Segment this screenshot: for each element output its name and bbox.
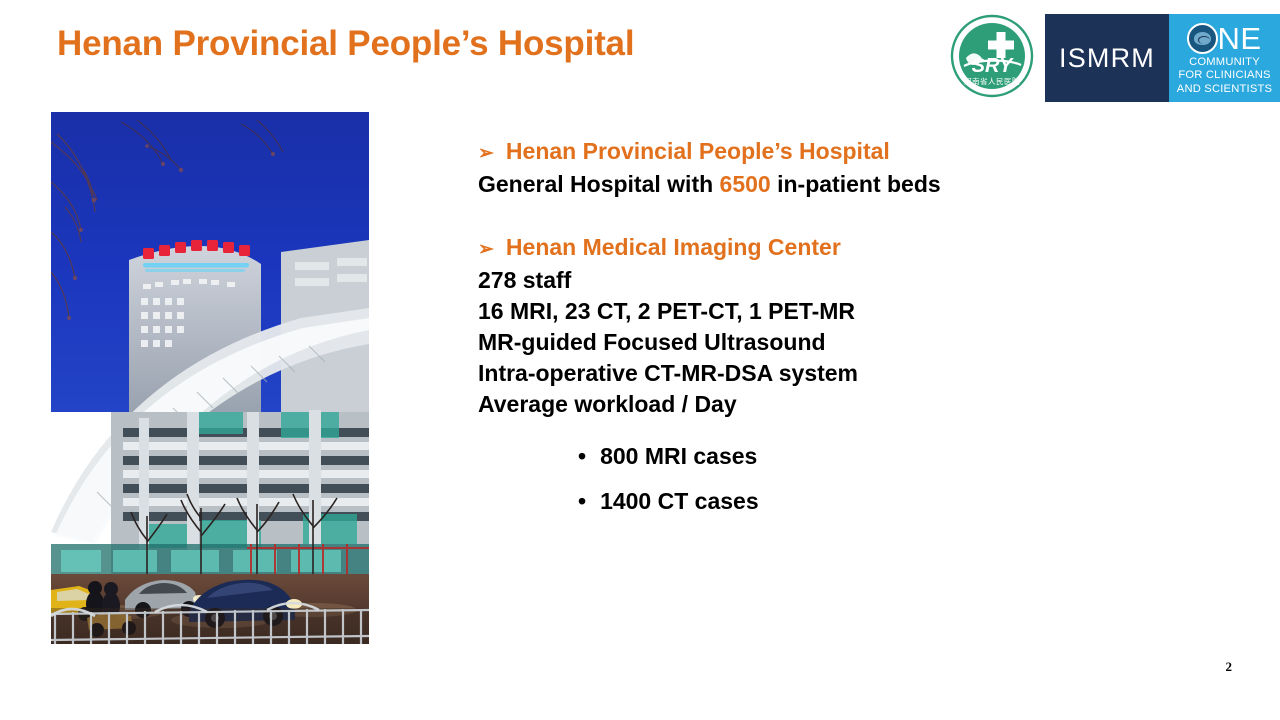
imaging-fact-line: Intra-operative CT-MR-DSA system <box>478 358 1238 389</box>
list-item: • 1400 CT cases <box>578 479 1238 524</box>
svg-text:河南省人民医院: 河南省人民医院 <box>964 76 1020 86</box>
one-tagline-line-3: AND SCIENTISTS <box>1177 83 1272 95</box>
section-heading-hospital-label: Henan Provincial People’s Hospital <box>506 136 890 167</box>
logo-bar: SRY 河南省人民医院 ISMRM NE COMMUNITY FOR CLINI… <box>950 14 1280 102</box>
ismrm-one-community-panel: NE COMMUNITY FOR CLINICIANS AND SCIENTIS… <box>1169 14 1280 102</box>
hospital-building-photo <box>51 112 369 644</box>
ismrm-wordmark: ISMRM <box>1059 43 1155 74</box>
beds-line: General Hospital with 6500 in-patient be… <box>478 169 1238 200</box>
page-number: 2 <box>1226 659 1233 675</box>
section-spacer <box>478 200 1238 232</box>
imaging-fact-line: 278 staff <box>478 265 1238 296</box>
imaging-fact-line: MR-guided Focused Ultrasound <box>478 327 1238 358</box>
list-item-label: 800 MRI cases <box>600 434 757 479</box>
imaging-fact-line: Average workload / Day <box>478 389 1238 420</box>
brain-icon <box>1187 23 1218 54</box>
presentation-slide: Henan Provincial People’s Hospital SRY 河… <box>0 0 1280 720</box>
dot-bullet-icon: • <box>578 479 586 524</box>
one-wordmark-ne: NE <box>1217 23 1261 54</box>
section-heading-hospital: ➢ Henan Provincial People’s Hospital <box>478 136 1238 169</box>
section-heading-imaging-center: ➢ Henan Medical Imaging Center <box>478 232 1238 265</box>
body-content: ➢ Henan Provincial People’s Hospital Gen… <box>478 136 1238 524</box>
hospital-night-scene-image <box>51 112 369 644</box>
hospital-seal-icon: SRY 河南省人民医院 <box>950 14 1034 98</box>
page-title: Henan Provincial People’s Hospital <box>57 24 634 64</box>
one-wordmark-row: NE <box>1187 21 1261 55</box>
hospital-seal-logo: SRY 河南省人民医院 <box>950 14 1034 98</box>
section-heading-imaging-center-label: Henan Medical Imaging Center <box>506 232 841 263</box>
one-tagline-line-2: FOR CLINICIANS <box>1178 69 1270 81</box>
list-item-label: 1400 CT cases <box>600 479 759 524</box>
svg-text:SRY: SRY <box>972 55 1014 77</box>
dot-bullet-icon: • <box>578 434 586 479</box>
ismrm-logo: ISMRM NE COMMUNITY FOR CLINICIANS AND SC… <box>1045 14 1280 102</box>
arrow-bullet-icon: ➢ <box>478 138 494 169</box>
one-tagline-line-1: COMMUNITY <box>1189 56 1260 68</box>
beds-line-prefix: General Hospital with <box>478 171 720 197</box>
beds-count: 6500 <box>720 171 771 197</box>
arrow-bullet-icon: ➢ <box>478 234 494 265</box>
imaging-fact-line: 16 MRI, 23 CT, 2 PET-CT, 1 PET-MR <box>478 296 1238 327</box>
beds-line-suffix: in-patient beds <box>771 171 941 197</box>
ismrm-wordmark-panel: ISMRM <box>1045 14 1169 102</box>
workload-sub-bullets: • 800 MRI cases • 1400 CT cases <box>478 434 1238 524</box>
list-item: • 800 MRI cases <box>578 434 1238 479</box>
